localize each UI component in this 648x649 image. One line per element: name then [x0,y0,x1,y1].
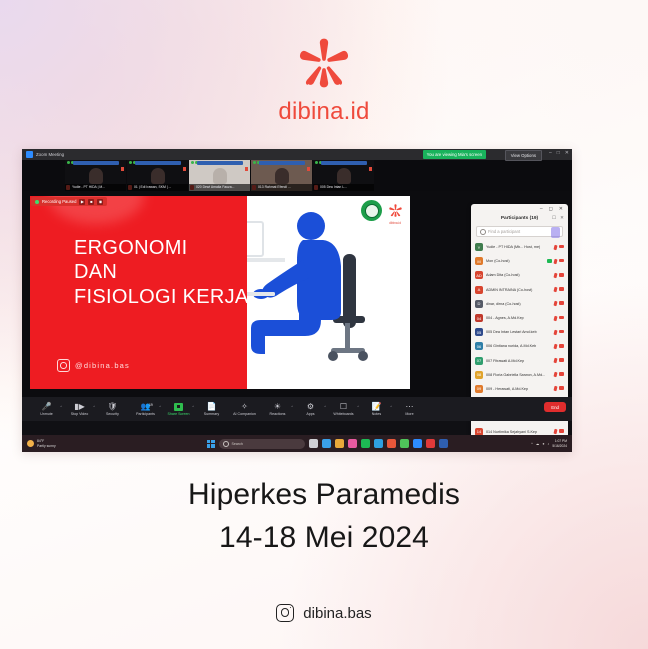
recording-stop-icon[interactable]: ■ [88,199,94,205]
word-icon[interactable] [439,439,448,448]
toolbar-item-reactions[interactable]: ☀^Reactions [261,402,294,416]
volume-icon[interactable]: ♪ [548,442,550,446]
zoom-window-title: Zoom Meeting [36,152,64,157]
toolbar-item-label: Summary [195,412,228,416]
task-view-icon[interactable] [309,439,318,448]
participant-status-icons [554,358,564,363]
onedrive-icon[interactable]: ☁ [536,442,540,446]
thumb-name-label: Yudie - PT HIDA | M... [65,184,126,191]
camera-off-icon[interactable] [559,259,564,263]
toolbar-item-label: Security [96,412,129,416]
panel-header-icons: ☐ ✕ [552,215,564,221]
participant-video-face [337,168,351,184]
thumb-mute-icon [245,167,248,171]
participant-status-icons [554,372,564,377]
participant-row[interactable]: 08008 Floria Gabriella Sarwon, A.Md... [473,368,566,382]
ergonomics-illustration: dibina.id [247,196,410,389]
camera-off-icon[interactable] [559,372,564,376]
taskbar-clock[interactable]: 1:07 PM 5/16/2024 [552,439,567,447]
mic-muted-icon[interactable] [553,258,557,264]
mic-muted-icon[interactable] [553,386,557,392]
participants-panel-header: Participants (19) ☐ ✕ [471,213,568,224]
camera-off-icon[interactable] [559,273,564,277]
taskbar-app-icons[interactable] [309,439,448,448]
participant-video-face [213,168,227,184]
windows-taskbar: 84°F Partly sunny Search ^ ☁ ● ♪ 1:07 PM [22,435,572,452]
toolbar-item-participants[interactable]: 👥19^Participants [129,402,162,416]
summary-icon: 📄 [195,402,228,411]
participant-status-icons [554,245,564,250]
recording-dot-icon [35,200,39,204]
thumb-name-label: 020 Dewi Amalia Fauza... [189,184,250,191]
instagram-icon [57,359,70,372]
toolbar-item-label: Participants [129,412,162,416]
participant-thumbnail[interactable]: Yudie - PT HIDA | M... [65,160,126,191]
taskbar-center: Search [123,439,531,449]
thumb-banner [259,161,305,165]
toolbar-item-share-screen[interactable]: ^Share Screen [162,402,195,416]
zoom-toolbar[interactable]: 🎤^Unmute▮▶^Stop Video🛡Security👥19^Partic… [22,397,572,421]
chevron-up-icon[interactable]: ^ [60,405,62,409]
mic-muted-icon[interactable] [553,273,557,279]
toolbar-item-unmute[interactable]: 🎤^Unmute [30,402,63,416]
participant-search-input[interactable]: Find a participant [476,226,563,237]
participant-status-icons [554,287,564,292]
windows-start-icon[interactable] [207,440,215,448]
mic-muted-icon: 🎤 [30,402,63,411]
participant-name: dinar, dirna (Co-host) [486,302,551,306]
mic-muted-icon[interactable] [553,344,557,350]
view-options-button[interactable]: View Options [505,150,542,161]
participant-thumbnail[interactable]: 01 | Edi Irawan, SKM | ... [127,160,188,191]
file-explorer-icon[interactable] [335,439,344,448]
participant-status-icons [554,344,564,349]
chevron-up-icon[interactable]: ^ [324,405,326,409]
panel-minimize-icon[interactable]: – [540,206,543,212]
mic-muted-icon[interactable] [553,244,557,250]
avatar: 04 [475,314,483,322]
participant-row[interactable]: ADAdam Dita (Co-host) [473,268,566,282]
toolbar-item-label: Notes [360,412,393,416]
asterisk-starburst-icon [295,34,353,92]
mic-muted-icon[interactable] [553,315,557,321]
toolbar-item-more[interactable]: ⋯More [393,402,426,416]
thumb-banner [197,161,243,165]
toolbar-item-summary[interactable]: 📄Summary [195,402,228,416]
share-screen-icon [162,402,195,411]
screen-share-banner-label: You are viewing Mia's screen [427,152,482,157]
participant-status-icons [554,316,564,321]
participant-video-face [151,168,165,184]
poster-background: dibina.id Zoom Meeting You are viewing M… [0,0,648,649]
end-meeting-button[interactable]: End [544,402,566,412]
participant-row[interactable]: 05005 Dea Intan Lestari Amd.keb [473,325,566,339]
thumb-mute-icon [369,167,372,171]
panel-dismiss-icon[interactable]: ✕ [560,215,564,221]
photos-icon[interactable] [348,439,357,448]
avatar: Y [475,243,483,251]
participant-row[interactable]: 07007 Fitrawati A.Md.Kep [473,354,566,368]
zoom-title-bar: Zoom Meeting You are viewing Mia's scree… [22,149,572,160]
toolbar-item-ai-companion[interactable]: ✧AI Companion [228,402,261,416]
participant-thumbnail[interactable]: 013 Rahmat Efendi ... [251,160,312,191]
slide-title: ERGONOMI DAN FISIOLOGI KERJA [74,236,249,309]
avatar: 09 [475,385,483,393]
thumb-banner [73,161,119,165]
camera-off-icon[interactable] [559,344,564,348]
recording-status-bar[interactable]: Recording Paused ▶ ■ ◉ [31,197,107,206]
ellipsis-icon: ⋯ [393,402,426,411]
toolbar-item-stop-video[interactable]: ▮▶^Stop Video [63,402,96,416]
toolbar-item-apps[interactable]: ⚙^Apps [294,402,327,416]
thumb-banner [321,161,367,165]
avatar: 05 [475,328,483,336]
weather-desc: Partly sunny [37,444,56,448]
thumb-mute-icon [121,167,124,171]
mic-muted-icon[interactable] [553,429,557,435]
poster-caption: Hiperkes Paramedis 14-18 Mei 2024 [0,478,648,555]
slide-instagram-label: @dibina.bas [75,361,130,370]
toolbar-item-notes[interactable]: 📝^Notes [360,402,393,416]
maximize-icon[interactable]: □ [557,151,560,156]
screen-share-banner: You are viewing Mia's screen [423,150,486,159]
mic-muted-icon[interactable] [553,329,557,335]
thumb-name-label: 005 Dea Intan L... [313,184,374,191]
camera-off-icon[interactable] [559,386,564,390]
panel-maximize-icon[interactable]: ◻ [549,206,553,212]
thumb-name-label: 01 | Edi Irawan, SKM | ... [127,184,188,191]
widgets-icon[interactable] [322,439,331,448]
mic-muted-icon[interactable] [553,287,557,293]
toolbar-item-label: Reactions [261,412,294,416]
zoom-meeting-screenshot: Zoom Meeting You are viewing Mia's scree… [22,149,572,452]
thumb-mute-icon [183,167,186,171]
camera-off-icon[interactable] [559,429,564,433]
participant-name: 004 - Agnes, A.Md.Kep [486,316,551,320]
poster-footer: dibina.bas [0,604,648,622]
participant-name: 005 Dea Intan Lestari Amd.keb [486,330,551,334]
participant-thumbnail-strip[interactable]: Yudie - PT HIDA | M...01 | Edi Irawan, S… [22,160,572,191]
view-options-label: View Options [511,153,536,158]
participant-status-icons [554,273,564,278]
notes-icon: 📝 [360,402,393,411]
chevron-up-icon[interactable]: ^ [357,405,359,409]
camera-off-icon[interactable] [559,287,564,291]
participant-thumbnail[interactable]: 005 Dea Intan L... [313,160,374,191]
search-icon [480,229,486,235]
slide-title-line3: FISIOLOGI KERJA [74,285,249,309]
edge-icon[interactable] [374,439,383,448]
whatsapp-icon[interactable] [400,439,409,448]
sun-icon [27,440,34,447]
slide-instagram-handle: @dibina.bas [57,359,130,372]
toolbar-item-label: Whiteboards [327,412,360,416]
dibina-asterisk-icon [388,203,403,218]
participant-status-icons [554,429,564,434]
chevron-up-icon[interactable]: ^ [159,405,161,409]
avatar: 07 [475,357,483,365]
antivirus-icon[interactable] [426,439,435,448]
chevron-up-icon[interactable]: ^ [93,405,95,409]
weather-text: 84°F Partly sunny [37,439,56,448]
toolbar-item-security[interactable]: 🛡Security [96,402,129,416]
share-screen-icon [174,403,183,411]
people-icon: 👥 [129,402,162,411]
participant-video-face [89,168,103,184]
participant-name: Mon (Co-host) [486,259,544,263]
toolbar-item-label: AI Companion [228,412,261,416]
chrome-icon[interactable] [387,439,396,448]
participant-name: Adam Dita (Co-host) [486,273,551,277]
camera-off-icon[interactable] [559,316,564,320]
window-controls: – □ ✕ [549,151,569,156]
mic-muted-icon[interactable] [553,372,557,378]
participant-row[interactable]: 06006 Gintiana nurida, A.Md.Keb [473,339,566,353]
recording-status-label: Recording Paused [42,199,76,204]
participant-name: 009 - Herawati, A.Md.Kep [486,387,551,391]
toolbar-item-label: Unmute [30,412,63,416]
participant-row[interactable]: YYudie - PT HIDA (Mb... Host, me) [473,240,566,254]
participant-status-icons [554,386,564,391]
avatar: M [475,257,483,265]
toolbar-item-label: More [393,412,426,416]
avatar: A [475,286,483,294]
whiteboard-icon: ☐ [327,402,360,411]
participant-row[interactable]: Ddinar, dirna (Co-host) [473,297,566,311]
reactions-icon: ☀ [261,402,294,411]
mic-muted-icon[interactable] [553,358,557,364]
caption-dates: 14-18 Mei 2024 [0,521,648,555]
chevron-up-icon[interactable]: ^ [291,405,293,409]
participant-name: ADMIN INTRAINA (Co-host) [486,288,551,292]
caption-title: Hiperkes Paramedis [0,478,648,512]
panel-window-controls: – ◻ ✕ [471,204,568,213]
unmuted-badge-icon [547,259,552,263]
taskbar-weather-widget[interactable]: 84°F Partly sunny [22,439,123,448]
chevron-up-icon[interactable]: ^ [531,442,533,446]
participant-row[interactable]: MMon (Co-host) [473,254,566,268]
camera-off-icon[interactable] [559,245,564,249]
ai-sparkle-icon: ✧ [228,402,261,411]
toolbar-item-label: Stop Video [63,412,96,416]
toolbar-item-label: Share Screen [162,412,195,416]
chevron-up-icon[interactable]: ^ [390,405,392,409]
participants-count-badge: 19 [149,403,153,407]
avatar: D [475,300,483,308]
thumb-name-label: 013 Rahmat Efendi ... [251,184,312,191]
participant-name: Yudie - PT HIDA (Mb... Host, me) [486,245,551,249]
zoom-app-icon [26,151,33,158]
brand-header: dibina.id [0,34,648,126]
participant-row[interactable]: AADMIN INTRAINA (Co-host) [473,283,566,297]
apps-icon: ⚙ [294,402,327,411]
taskbar-system-tray: ^ ☁ ● ♪ 1:07 PM 5/16/2024 [531,439,572,447]
participant-name: 007 Fitrawati A.Md.Kep [486,359,551,363]
spotify-icon[interactable] [361,439,370,448]
thumb-banner [135,161,181,165]
slide-logo-caption: dibina.id [389,221,401,225]
network-icon[interactable]: ● [542,442,544,446]
clock-date: 5/16/2024 [552,444,567,448]
participant-row[interactable]: 04004 - Agnes, A.Md.Kep [473,311,566,325]
instagram-icon [276,604,294,622]
recording-more-icon[interactable]: ◉ [97,199,103,205]
meeting-stage: Recording Paused ▶ ■ ◉ ERGONOMI DAN FISI… [22,191,572,397]
participant-status-icons [554,301,564,306]
avatar: 06 [475,342,483,350]
seated-worker-figure [247,196,410,389]
panel-close-icon[interactable]: ✕ [559,206,563,212]
camera-off-icon[interactable] [559,330,564,334]
thumb-mute-icon [307,167,310,171]
participant-name: 006 Gintiana nurida, A.Md.Keb [486,344,551,348]
mouse-cursor-icon [551,227,560,238]
participant-name: 008 Floria Gabriella Sarwon, A.Md... [486,373,551,377]
close-icon[interactable]: ✕ [565,151,569,156]
taskbar-search-box[interactable]: Search [219,439,305,449]
camera-off-icon[interactable] [559,358,564,362]
chevron-up-icon[interactable]: ^ [192,405,194,409]
slide-title-line1: ERGONOMI [74,236,249,260]
search-icon [223,441,229,447]
slide-title-line2: DAN [74,260,249,284]
participant-thumbnail[interactable]: 020 Dewi Amalia Fauza... [189,160,250,191]
zoom-icon[interactable] [413,439,422,448]
participant-status-icons [547,259,564,264]
participant-row[interactable]: 09009 - Herawati, A.Md.Kep [473,382,566,396]
taskbar-search-placeholder: Search [232,442,243,446]
participant-video-face [275,168,289,184]
slide-logos [361,200,403,221]
camera-icon: ▮▶ [63,402,96,411]
toolbar-item-label: Apps [294,412,327,416]
participant-name: 014 Nurtimika Sejahyani S.Kep [486,430,551,434]
hiperkes-badge-icon [361,200,382,221]
footer-handle: dibina.bas [303,605,371,622]
camera-off-icon[interactable] [559,301,564,305]
participant-search-placeholder: Find a participant [488,229,520,234]
avatar: 08 [475,371,483,379]
participants-panel-title: Participants (19) [501,216,538,221]
participant-status-icons [554,330,564,335]
toolbar-item-whiteboards[interactable]: ☐^Whiteboards [327,402,360,416]
mic-muted-icon[interactable] [553,301,557,307]
shared-slide: Recording Paused ▶ ■ ◉ ERGONOMI DAN FISI… [30,196,410,389]
brand-name: dibina.id [0,98,648,126]
popout-icon[interactable]: ☐ [552,215,556,221]
minimize-icon[interactable]: – [549,151,552,156]
shield-icon: 🛡 [96,402,129,411]
avatar: AD [475,271,483,279]
recording-resume-icon[interactable]: ▶ [79,199,85,205]
